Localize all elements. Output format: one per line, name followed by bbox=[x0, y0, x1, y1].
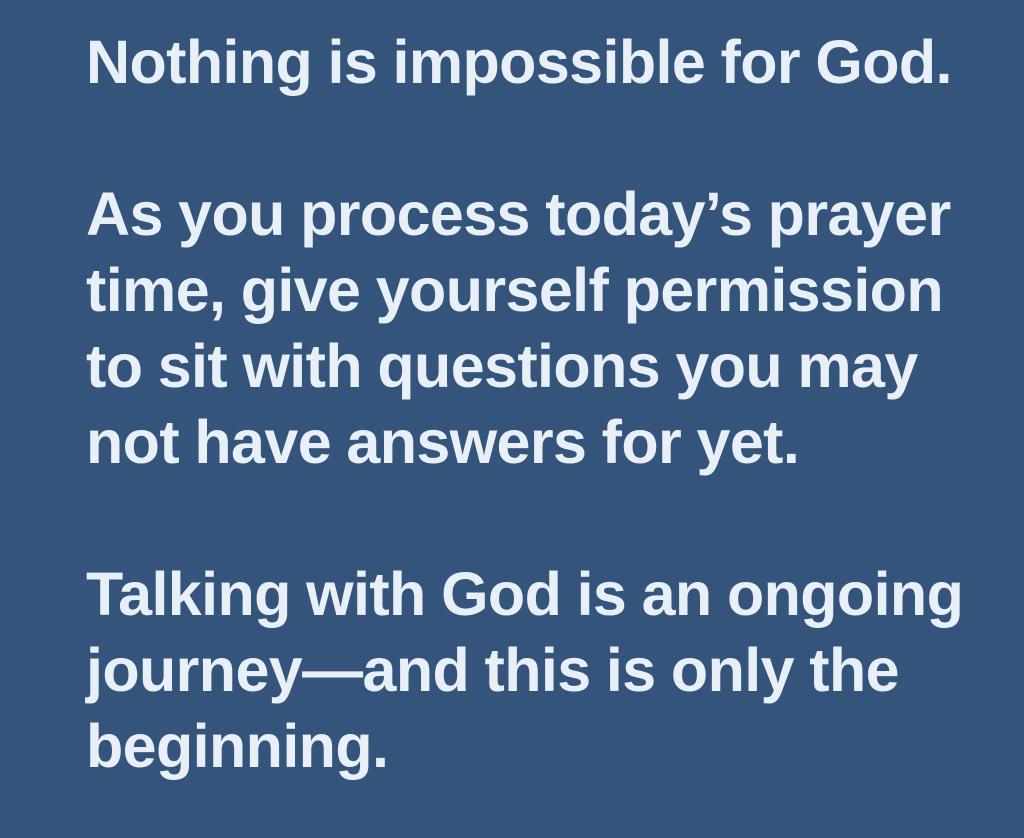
paragraph-spacer bbox=[86, 480, 986, 556]
paragraph-reflection: As you process today’s prayer time, give… bbox=[86, 176, 986, 480]
text-card: Nothing is impossible for God. As you pr… bbox=[0, 0, 1024, 838]
paragraph-spacer bbox=[86, 100, 986, 176]
paragraph-closing: Talking with God is an ongoing journey—a… bbox=[86, 556, 986, 784]
paragraph-statement: Nothing is impossible for God. bbox=[86, 24, 986, 100]
quote-copy-block: Nothing is impossible for God. As you pr… bbox=[86, 24, 986, 784]
